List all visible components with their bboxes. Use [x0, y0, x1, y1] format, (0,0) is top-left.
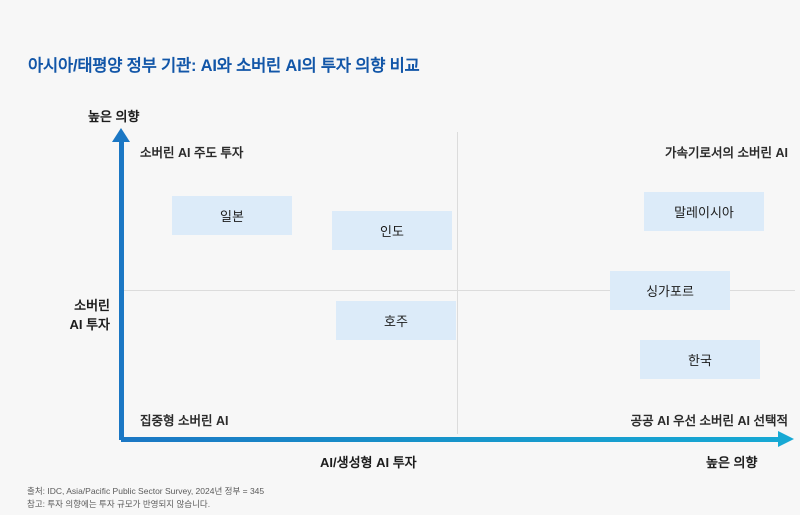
- data-point-label: 인도: [380, 221, 404, 240]
- quadrant-label-top-right: 가속기로서의 소버린 AI: [665, 142, 788, 161]
- data-point-marker: 일본: [172, 196, 292, 235]
- quadrant-label-bottom-right: 공공 AI 우선 소버린 AI 선택적: [631, 410, 788, 429]
- page-title: 아시아/태평양 정부 기관: AI와 소버린 AI의 투자 의향 비교: [28, 52, 420, 76]
- data-point-marker: 인도: [332, 211, 452, 250]
- x-axis-end-label: 높은 의향: [706, 452, 757, 471]
- footnote-source: 출처: IDC, Asia/Pacific Public Sector Surv…: [27, 485, 264, 498]
- data-point-label: 호주: [384, 311, 408, 330]
- x-axis-arrow-icon: [778, 431, 794, 447]
- x-axis: [121, 437, 781, 442]
- y-axis-title: 소버린 AI 투자: [10, 296, 110, 334]
- y-axis-arrow-icon: [112, 128, 130, 142]
- footnote-note: 참고: 투자 의향에는 투자 규모가 반영되지 않습니다.: [27, 498, 264, 511]
- data-point-label: 말레이시아: [674, 202, 734, 221]
- footnotes: 출처: IDC, Asia/Pacific Public Sector Surv…: [27, 485, 264, 510]
- y-axis-title-line2: AI 투자: [69, 317, 110, 332]
- y-axis-title-line1: 소버린: [74, 298, 110, 313]
- data-point-label: 일본: [220, 206, 244, 225]
- y-axis: [119, 140, 124, 440]
- gridline-vertical: [457, 132, 458, 434]
- quadrant-label-bottom-left: 집중형 소버린 AI: [140, 410, 228, 429]
- data-point-marker: 싱가포르: [610, 271, 730, 310]
- x-axis-title: AI/생성형 AI 투자: [320, 452, 417, 471]
- quadrant-label-top-left: 소버린 AI 주도 투자: [140, 142, 243, 161]
- data-point-marker: 호주: [336, 301, 456, 340]
- data-point-label: 한국: [688, 350, 712, 369]
- y-axis-top-label: 높은 의향: [88, 106, 139, 125]
- data-point-label: 싱가포르: [646, 281, 694, 300]
- quadrant-chart: 아시아/태평양 정부 기관: AI와 소버린 AI의 투자 의향 비교 높은 의…: [0, 0, 800, 515]
- data-point-marker: 말레이시아: [644, 192, 764, 231]
- data-point-marker: 한국: [640, 340, 760, 379]
